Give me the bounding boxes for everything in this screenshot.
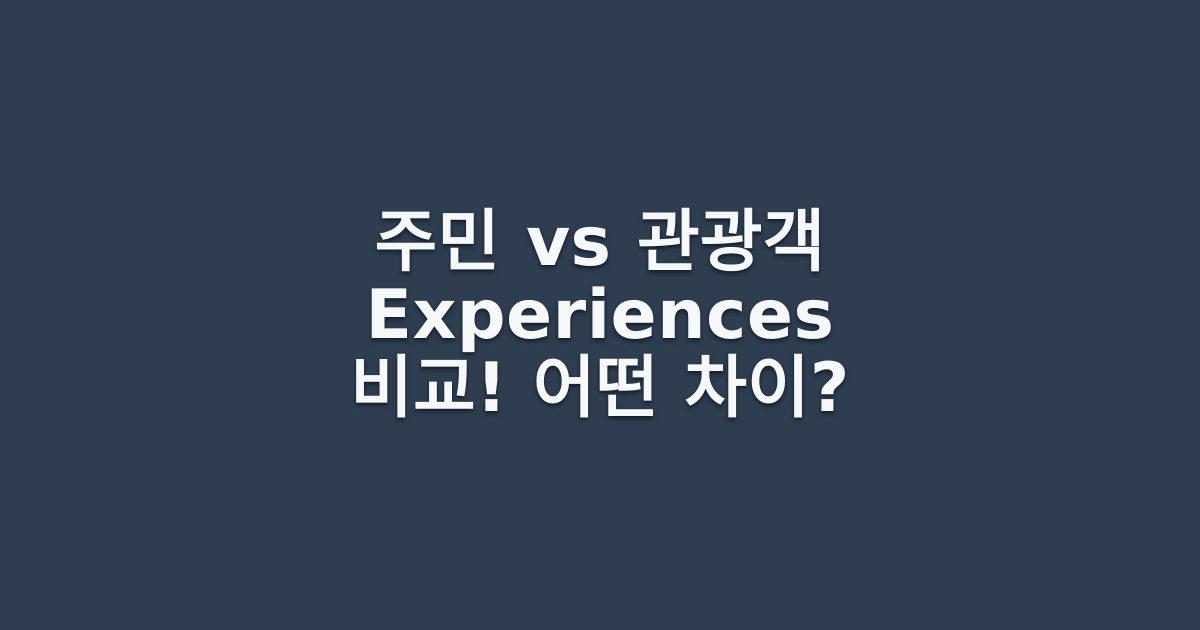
page-title: 주민 vs 관광객 Experiences 비교! 어떤 차이? [60, 206, 1140, 425]
headline-line-2: Experiences [60, 279, 1140, 352]
share-card-canvas: 주민 vs 관광객 Experiences 비교! 어떤 차이? [0, 0, 1200, 630]
headline-line-1: 주민 vs 관광객 [60, 206, 1140, 279]
headline-line-3: 비교! 어떤 차이? [60, 352, 1140, 425]
